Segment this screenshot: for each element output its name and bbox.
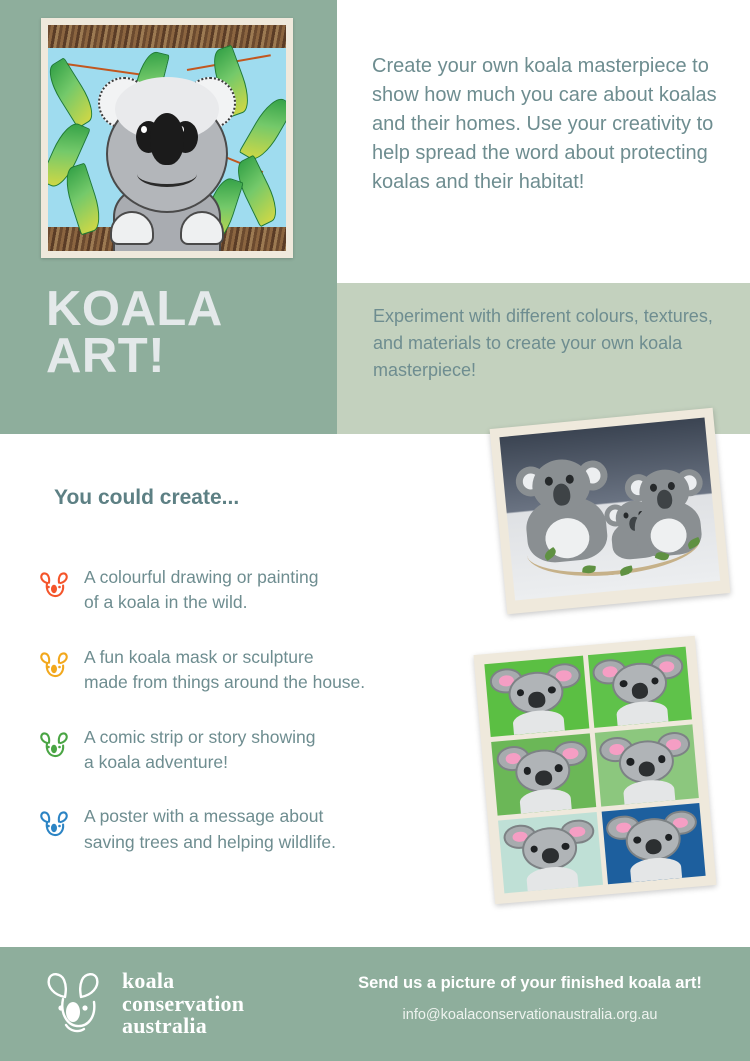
poster-root: Create your own koala masterpiece to sho…: [0, 0, 750, 1061]
list-item-line-1: A comic strip or story showing: [84, 727, 315, 747]
drawing-eye-right: [554, 764, 562, 772]
drawing-eye-left: [633, 836, 641, 844]
koala-drawings-grid-photo: [474, 636, 717, 904]
koala-logo-icon: [36, 967, 110, 1041]
page-title: KOALA ART!: [46, 286, 326, 379]
koala-drawing-panel: [498, 812, 603, 894]
koala-drawing-panel: [491, 734, 596, 816]
clay-koalas-photo: [490, 408, 731, 615]
experiment-text: Experiment with different colours, textu…: [373, 303, 723, 384]
intro-paragraph: Create your own koala masterpiece to sho…: [372, 52, 722, 197]
clay-koalas-scene: [499, 418, 720, 601]
hero-artwork-photo: [41, 18, 293, 258]
page-title-line-1: KOALA: [46, 286, 326, 333]
drawing-chest: [512, 709, 565, 735]
footer-logo-wordmark: koala conservation australia: [122, 970, 244, 1039]
list-item-line-1: A colourful drawing or painting: [84, 567, 318, 587]
koala-drawing-panel: [484, 656, 589, 738]
footer-logo-line-1: koala: [122, 970, 244, 993]
drawing-chest: [526, 865, 579, 891]
list-item: A colourful drawing or painting of a koa…: [34, 563, 454, 616]
list-item: A comic strip or story showing a koala a…: [34, 723, 454, 776]
drawing-chest: [519, 787, 572, 813]
footer-logo-line-3: australia: [122, 1015, 244, 1038]
artwork-koala-smile: [137, 161, 197, 187]
koala-head-icon: [34, 806, 74, 846]
ideas-section-title: You could create...: [54, 486, 239, 510]
list-item-text: A comic strip or story showing a koala a…: [74, 723, 315, 776]
drawing-eye-right: [561, 842, 569, 850]
koala-drawing-panel: [594, 725, 699, 807]
list-item-line-2: made from things around the house.: [84, 672, 365, 692]
drawing-eye-right: [658, 755, 666, 763]
hero-artwork-canvas: [48, 25, 286, 251]
koala-drawing-panel: [587, 647, 692, 729]
ideas-list: A colourful drawing or painting of a koa…: [34, 563, 454, 882]
koala-head-icon: [34, 727, 74, 767]
list-item-line-2: of a koala in the wild.: [84, 592, 247, 612]
list-item-line-2: saving trees and helping wildlife.: [84, 832, 336, 852]
list-item: A poster with a message about saving tre…: [34, 802, 454, 855]
drawing-eye-left: [626, 758, 634, 766]
koala-head-icon: [34, 567, 74, 607]
footer-band: koala conservation australia Send us a p…: [0, 947, 750, 1061]
list-item-text: A poster with a message about saving tre…: [74, 802, 336, 855]
footer-email-link[interactable]: info@koalaconservationaustralia.org.au: [330, 1007, 730, 1023]
list-item-text: A colourful drawing or painting of a koa…: [74, 563, 318, 616]
drawing-chest: [615, 700, 668, 726]
artwork-bark-top: [48, 25, 286, 48]
koala-head-icon: [34, 647, 74, 687]
list-item-line-2: a koala adventure!: [84, 752, 228, 772]
list-item-text: A fun koala mask or sculpture made from …: [74, 643, 365, 696]
koala-drawings-grid: [484, 647, 705, 894]
page-title-line-2: ART!: [46, 333, 326, 380]
footer-call-to-action: Send us a picture of your finished koala…: [330, 974, 730, 993]
drawing-chest: [622, 778, 675, 804]
footer-logo: koala conservation australia: [36, 967, 244, 1041]
koala-drawing-panel: [601, 803, 706, 885]
drawing-eye-left: [523, 767, 531, 775]
list-item-line-1: A fun koala mask or sculpture: [84, 647, 314, 667]
drawing-chest: [629, 856, 682, 882]
list-item: A fun koala mask or sculpture made from …: [34, 643, 454, 696]
footer-logo-line-2: conservation: [122, 993, 244, 1016]
list-item-line-1: A poster with a message about: [84, 806, 323, 826]
artwork-koala-nose: [150, 113, 184, 165]
